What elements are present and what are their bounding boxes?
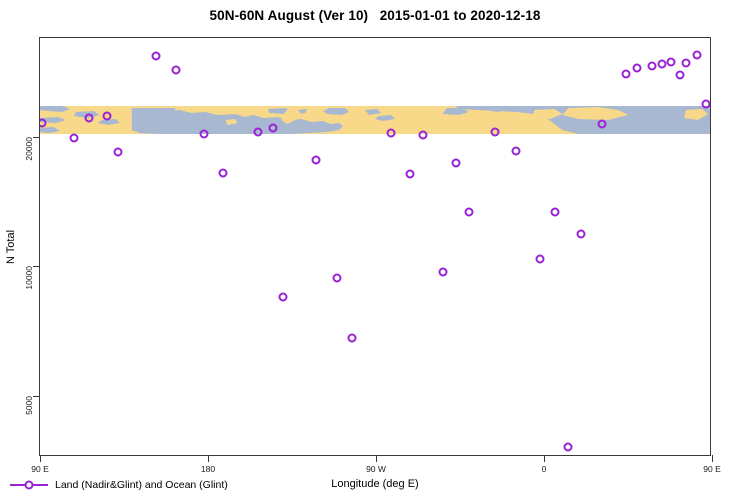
data-point	[84, 114, 93, 123]
x-axis-tick	[712, 455, 713, 462]
data-point	[254, 128, 263, 137]
x-axis-tick	[40, 455, 41, 462]
data-point	[172, 66, 181, 75]
legend-circle-icon	[25, 481, 34, 490]
plot-area: 5000100002000090 E18090 W090 E	[39, 37, 711, 456]
data-point	[439, 268, 448, 277]
data-point	[536, 255, 545, 264]
data-point	[386, 129, 395, 138]
data-point	[218, 168, 227, 177]
latitude-map-band	[40, 106, 710, 134]
x-axis-tick	[376, 455, 377, 462]
data-point	[657, 60, 666, 69]
y-axis-tick	[33, 396, 40, 397]
data-point	[622, 70, 631, 79]
data-point	[418, 131, 427, 140]
y-axis-tick	[33, 266, 40, 267]
x-axis-tick-label: 0	[542, 464, 547, 474]
data-point	[465, 207, 474, 216]
chart-root: 50N-60N August (Ver 10) 2015-01-01 to 20…	[0, 0, 750, 500]
map-band-svg	[40, 106, 710, 134]
data-point	[681, 58, 690, 67]
data-point	[278, 292, 287, 301]
data-point	[491, 128, 500, 137]
data-point	[269, 123, 278, 132]
y-axis-tick-label: 10000	[24, 266, 34, 290]
data-point	[69, 133, 78, 142]
data-point	[676, 70, 685, 79]
x-axis-tick-label: 90 E	[31, 464, 49, 474]
data-point	[347, 334, 356, 343]
data-point	[597, 120, 606, 129]
data-point	[151, 51, 160, 60]
x-axis-tick-label: 180	[201, 464, 215, 474]
data-point	[633, 64, 642, 73]
data-point	[702, 99, 710, 108]
plot-inner	[40, 38, 710, 455]
data-point	[312, 155, 321, 164]
x-axis-tick	[544, 455, 545, 462]
data-point	[648, 61, 657, 70]
x-axis-tick-label: 90 E	[703, 464, 721, 474]
legend-marker	[10, 479, 48, 491]
data-point	[103, 111, 112, 120]
data-point	[693, 51, 702, 60]
data-point	[666, 57, 675, 66]
data-point	[512, 146, 521, 155]
data-point	[551, 207, 560, 216]
data-point	[577, 229, 586, 238]
y-axis-tick-label: 20000	[24, 137, 34, 161]
data-point	[405, 170, 414, 179]
legend-label: Land (Nadir&Glint) and Ocean (Glint)	[55, 479, 228, 491]
y-axis-tick-label: 5000	[24, 396, 34, 415]
x-axis-tick-label: 90 W	[366, 464, 386, 474]
data-point	[114, 147, 123, 156]
data-point	[200, 130, 209, 139]
chart-title: 50N-60N August (Ver 10) 2015-01-01 to 20…	[0, 8, 750, 23]
data-point	[564, 442, 573, 451]
data-point	[332, 273, 341, 282]
x-axis-tick	[208, 455, 209, 462]
y-axis-tick	[33, 137, 40, 138]
data-point	[452, 159, 461, 168]
y-axis-title: N Total	[5, 230, 17, 264]
legend[interactable]: Land (Nadir&Glint) and Ocean (Glint)	[6, 476, 236, 494]
